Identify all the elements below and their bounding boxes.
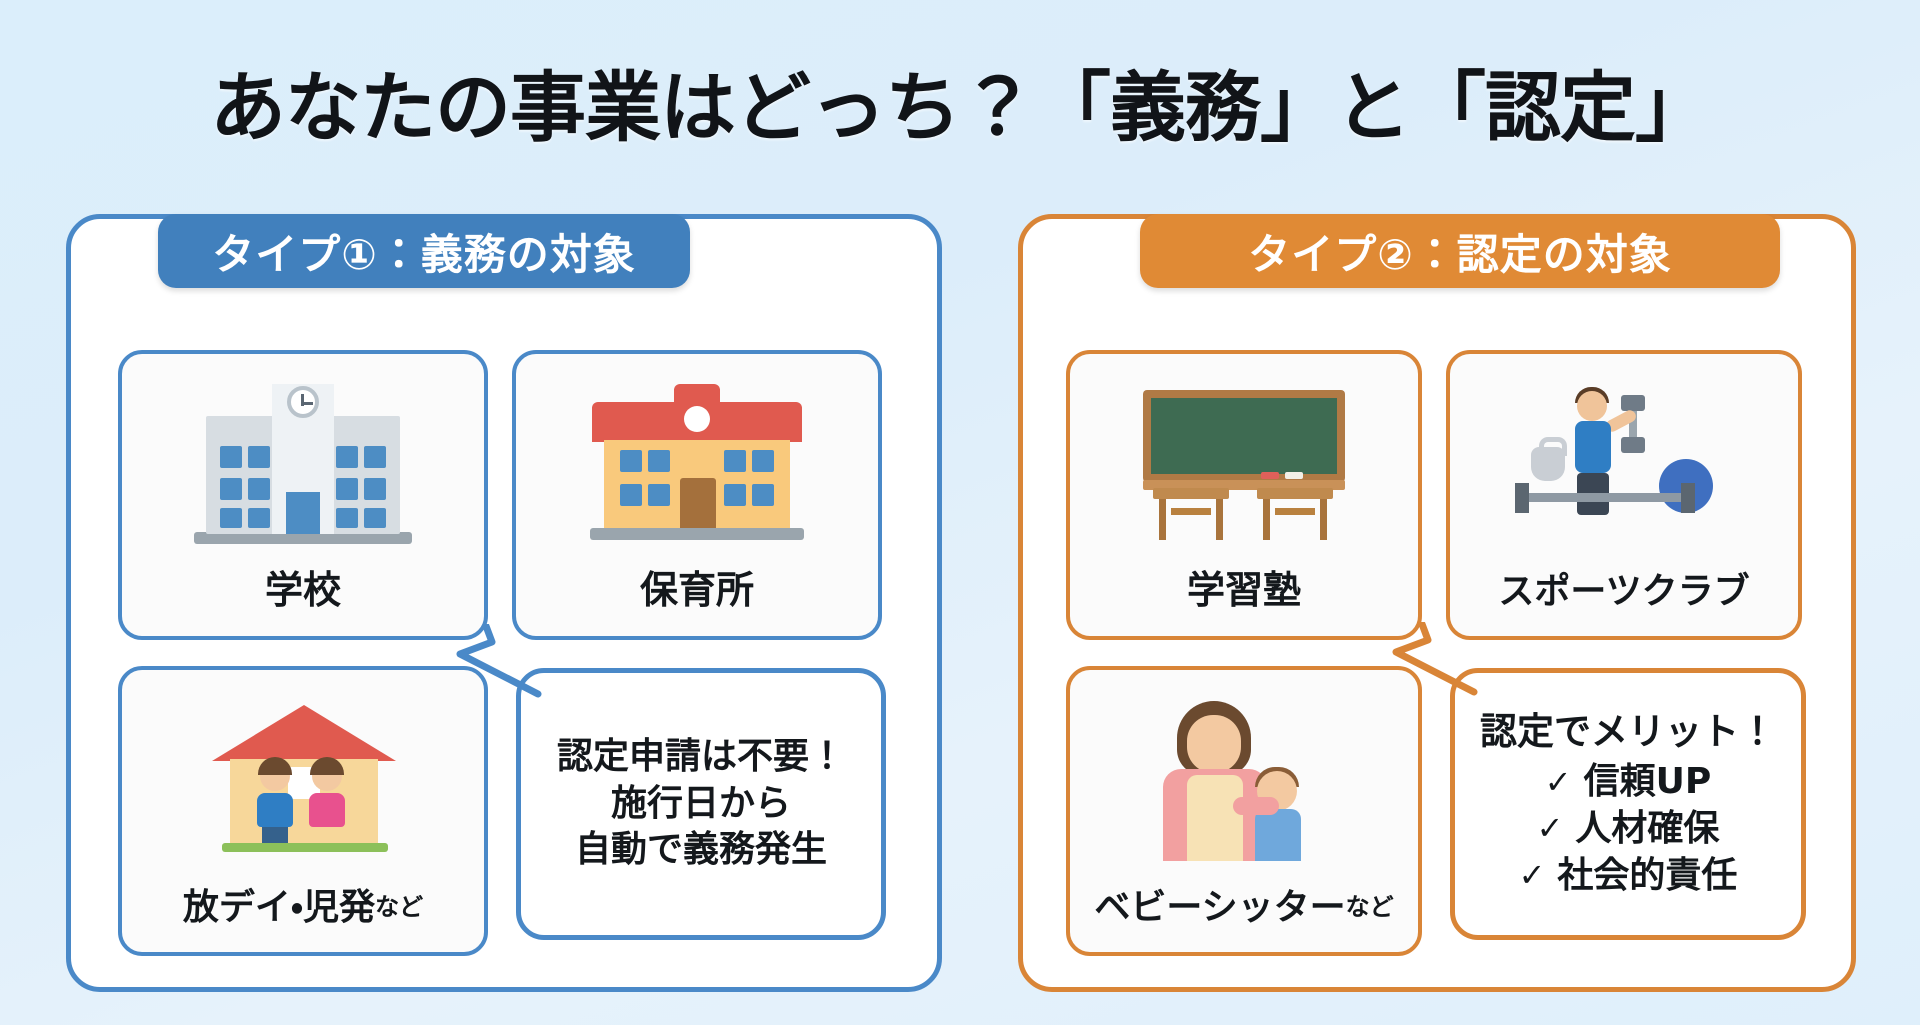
gym-athlete-icon [1450,354,1798,562]
bubble-line: 施行日から [611,781,791,828]
page-title: あなたの事業はどっち？「義務」と「認定」 [0,46,1920,156]
check-icon: ✓ [1537,808,1564,850]
house-with-children-icon [122,670,484,878]
card-babysitter[interactable]: ベビーシッターなど [1066,666,1422,956]
school-building-icon [122,354,484,559]
bubble-heading: 認定でメリット！ [1480,709,1776,755]
check-icon: ✓ [1519,855,1546,897]
card-caption: スポーツクラブ [1498,562,1749,636]
panel-type2-badge: タイプ②：認定の対象 [1140,214,1780,288]
card-housing-support[interactable]: 放デイ・児発など [118,666,488,956]
type1-bubble-slot: 認定申請は不要！ 施行日から 自動で義務発生 [512,666,882,956]
card-caption: ベビーシッターなど [1094,878,1393,952]
card-caption-text: ベビーシッター [1094,887,1345,928]
card-caption-suffix: など [1346,893,1394,921]
bubble-check-label: 人材確保 [1575,806,1719,853]
card-nursery[interactable]: 保育所 [512,350,882,640]
check-icon: ✓ [1545,762,1572,804]
card-school[interactable]: 学校 [118,350,488,640]
bubble-check-label: 社会的責任 [1557,853,1737,900]
card-caption-text: 放デイ・児発 [183,887,375,928]
card-caption: 放デイ・児発など [183,878,423,952]
nursery-building-icon [516,354,878,559]
card-caption: 学習塾 [1187,559,1301,636]
speech-bubble-tail-icon [1382,622,1478,700]
bubble-line: 認定申請は不要！ [557,734,845,781]
panel-type1-badge: タイプ①：義務の対象 [158,214,690,288]
type2-card-grid: 学習塾 スポーツクラブ [1066,350,1814,956]
card-cram-school[interactable]: 学習塾 [1066,350,1422,640]
bubble-line: 自動で義務発生 [575,827,827,874]
bubble-check-label: 信頼UP [1584,759,1712,806]
type1-note-bubble: 認定申請は不要！ 施行日から 自動で義務発生 [516,668,886,940]
bubble-check-item: ✓ 人材確保 [1537,806,1720,853]
card-caption: 保育所 [640,559,754,636]
type2-note-bubble: 認定でメリット！ ✓ 信頼UP ✓ 人材確保 ✓ 社会的責任 [1450,668,1806,940]
babysitter-icon [1070,670,1418,878]
card-caption-suffix: など [375,893,423,921]
bubble-check-item: ✓ 信頼UP [1545,759,1711,806]
type1-card-grid: 学校 保育所 [118,350,898,956]
card-sports-club[interactable]: スポーツクラブ [1446,350,1802,640]
type2-bubble-slot: 認定でメリット！ ✓ 信頼UP ✓ 人材確保 ✓ 社会的責任 [1446,666,1802,956]
blackboard-classroom-icon [1070,354,1418,559]
card-caption: 学校 [265,559,341,636]
bubble-check-item: ✓ 社会的責任 [1519,853,1738,900]
speech-bubble-tail-icon [446,624,542,702]
